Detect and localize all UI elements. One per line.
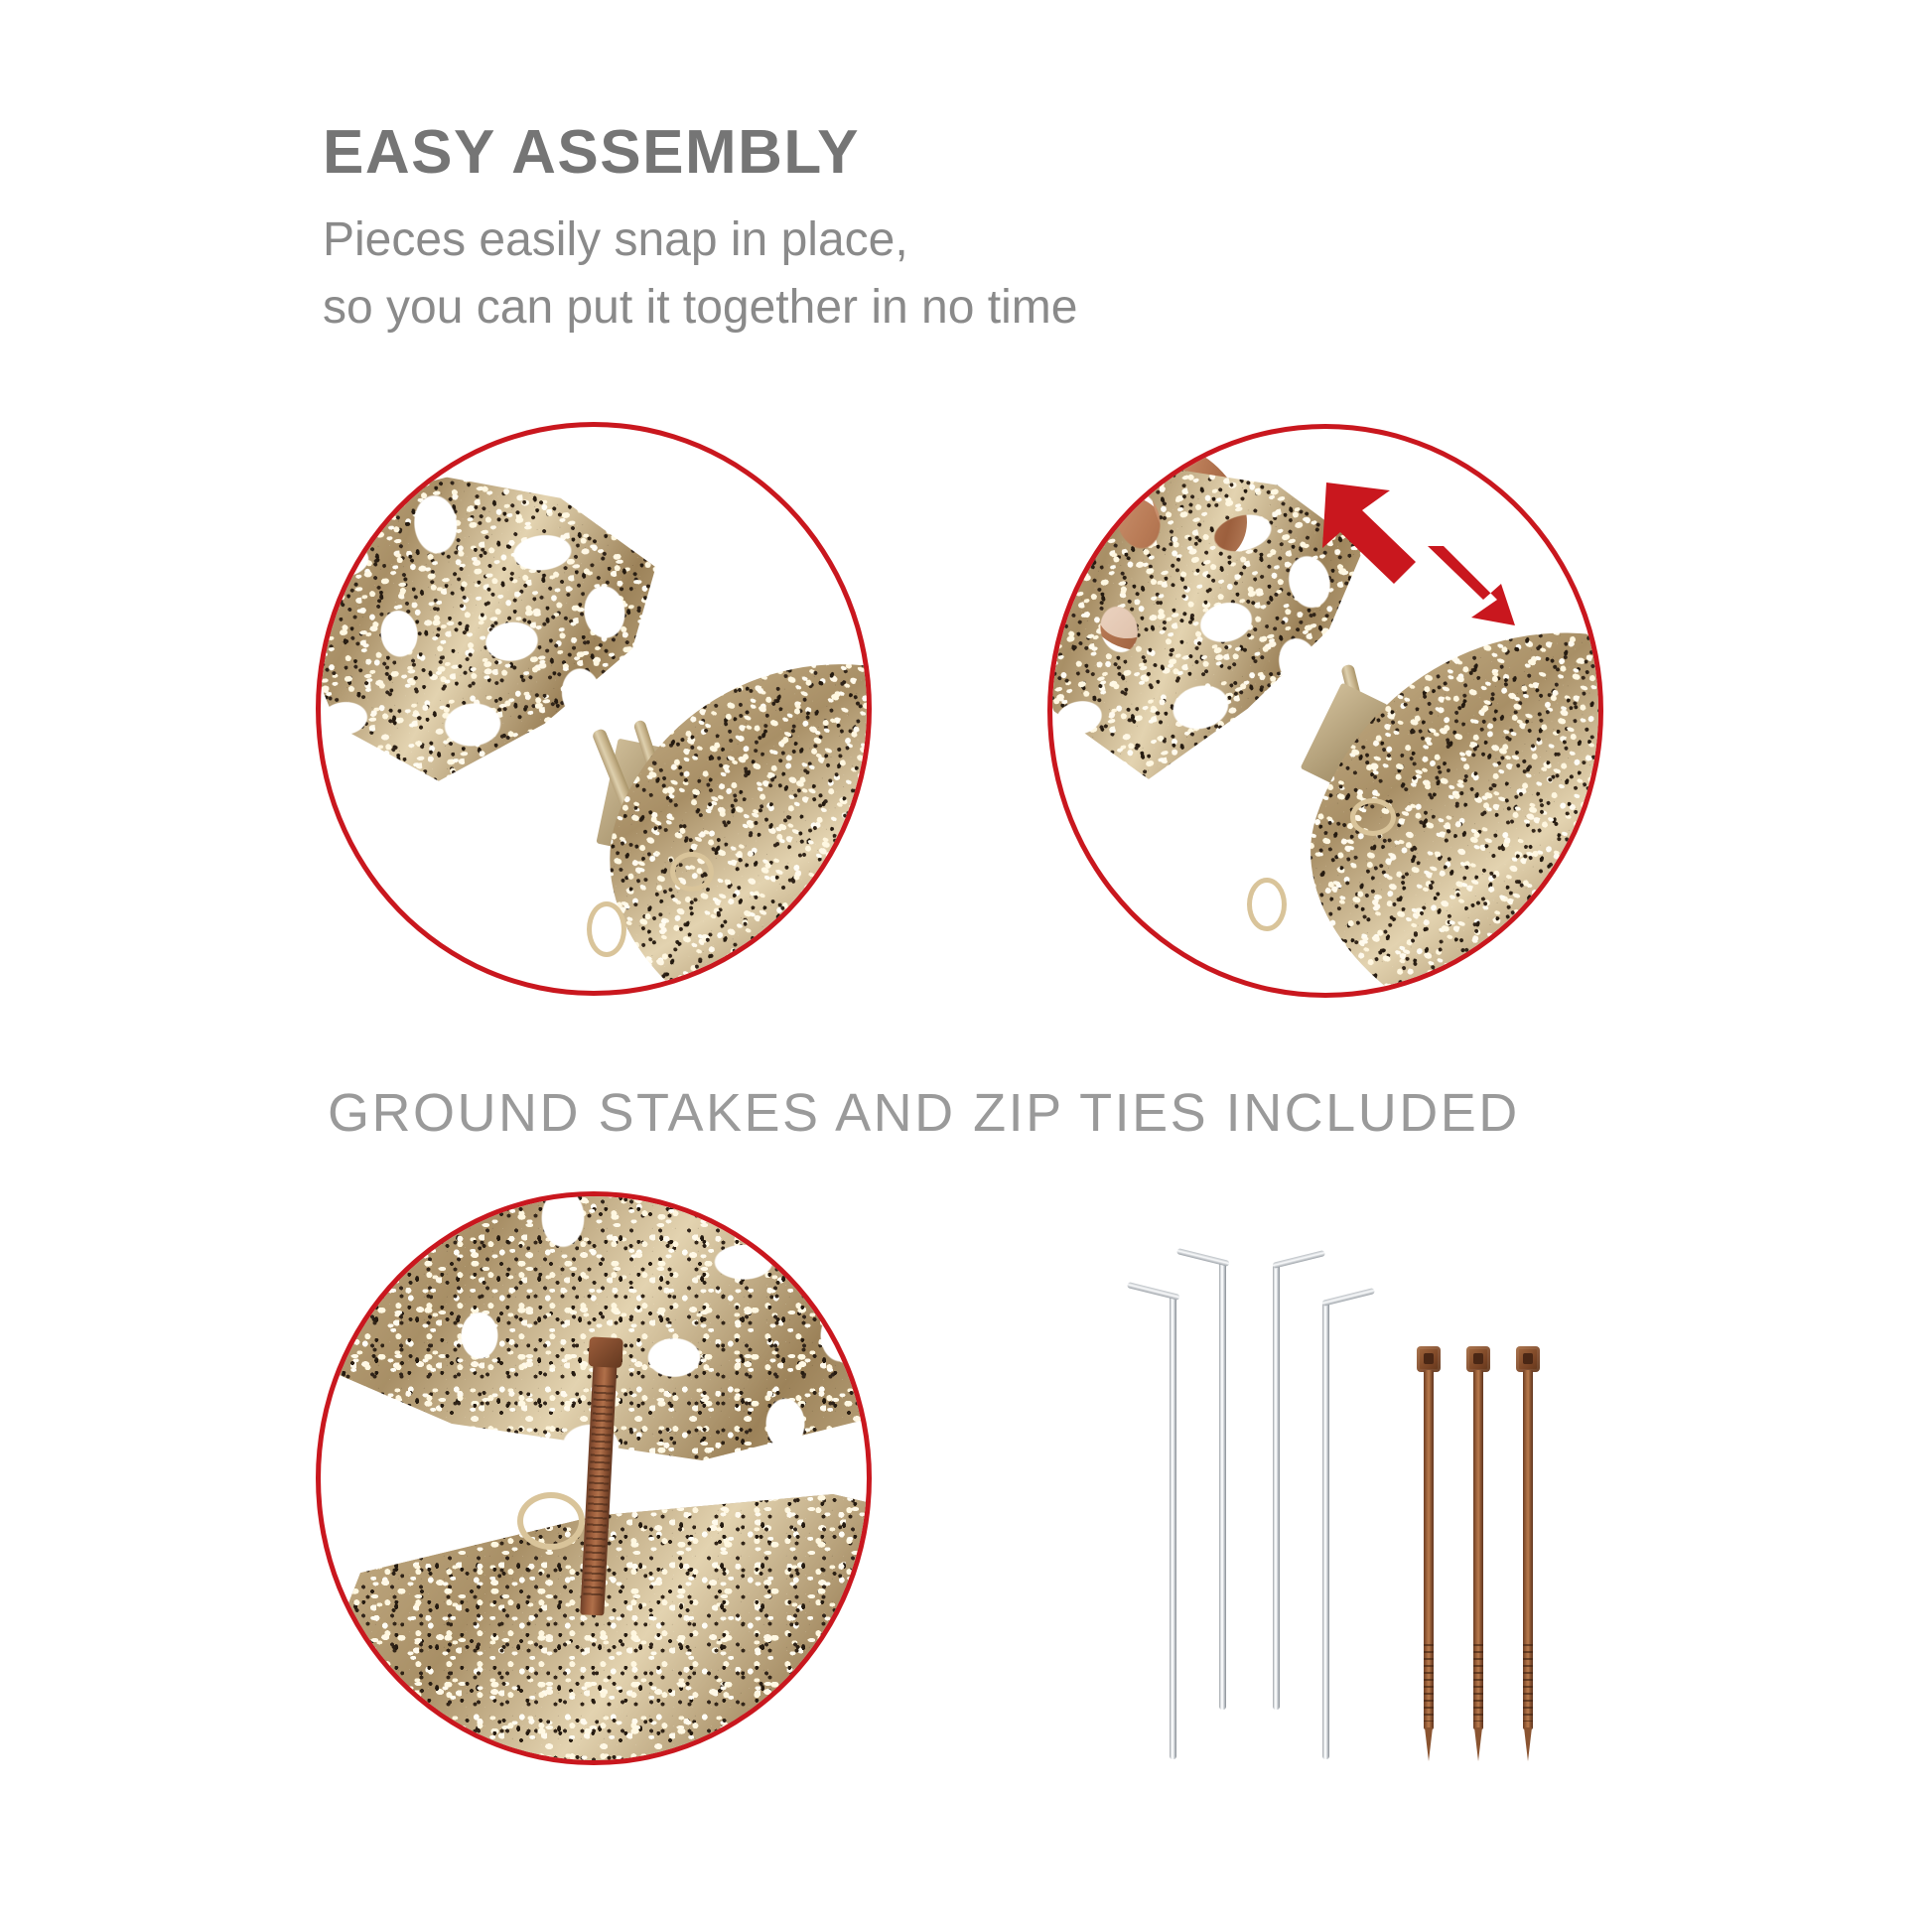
zip-tie-tip <box>1524 1727 1532 1761</box>
zip-tie <box>1422 1346 1436 1761</box>
zip-tie-ridges <box>1473 1644 1483 1722</box>
stake-hook <box>1176 1248 1230 1267</box>
wire-loop-b <box>587 901 626 957</box>
photo-zip-tie-detail <box>321 1196 867 1760</box>
photo-snap-align <box>321 427 867 991</box>
assembly-subtitle-line2: so you can put it together in no time <box>323 274 1077 342</box>
stake-shaft <box>1219 1261 1226 1710</box>
wire-loop-b <box>1247 878 1287 931</box>
wire-loop-a <box>670 852 714 892</box>
wire-loop <box>517 1492 585 1550</box>
zip-tie-tip <box>1425 1727 1433 1761</box>
stake-hook <box>1321 1288 1375 1307</box>
wire-loop-a <box>1350 798 1396 836</box>
stake-hook <box>1127 1282 1180 1301</box>
assembly-subtitle-line1: Pieces easily snap in place, <box>323 207 1077 274</box>
panel-zip-tie-detail <box>316 1191 872 1765</box>
stake-shaft <box>1273 1263 1280 1710</box>
snap-direction-arrow <box>1320 475 1519 633</box>
zip-tie-head <box>1466 1346 1490 1372</box>
zip-ties-group <box>1422 1346 1581 1763</box>
zip-tie-head <box>1417 1346 1441 1372</box>
ground-stakes-group <box>1132 1253 1390 1769</box>
infographic-page: EASY ASSEMBLY Pieces easily snap in plac… <box>0 0 1932 1932</box>
zip-tie <box>1521 1346 1535 1761</box>
zip-tie-ridges <box>1424 1644 1434 1722</box>
panel-snap-align <box>316 422 872 996</box>
double-headed-diagonal-arrow-icon <box>1320 475 1519 633</box>
stake-shaft <box>1322 1301 1329 1759</box>
zip-tie-tip <box>1474 1727 1482 1761</box>
assembly-subtitle: Pieces easily snap in place, so you can … <box>323 207 1077 342</box>
zip-tie-ridges <box>1523 1644 1533 1722</box>
zip-tie-head <box>1516 1346 1540 1372</box>
stake-hook <box>1272 1250 1325 1269</box>
assembly-heading: EASY ASSEMBLY <box>323 117 860 188</box>
zip-tie <box>1471 1346 1485 1761</box>
hardware-heading: GROUND STAKES AND ZIP TIES INCLUDED <box>328 1082 1520 1144</box>
stake-shaft <box>1170 1295 1176 1759</box>
